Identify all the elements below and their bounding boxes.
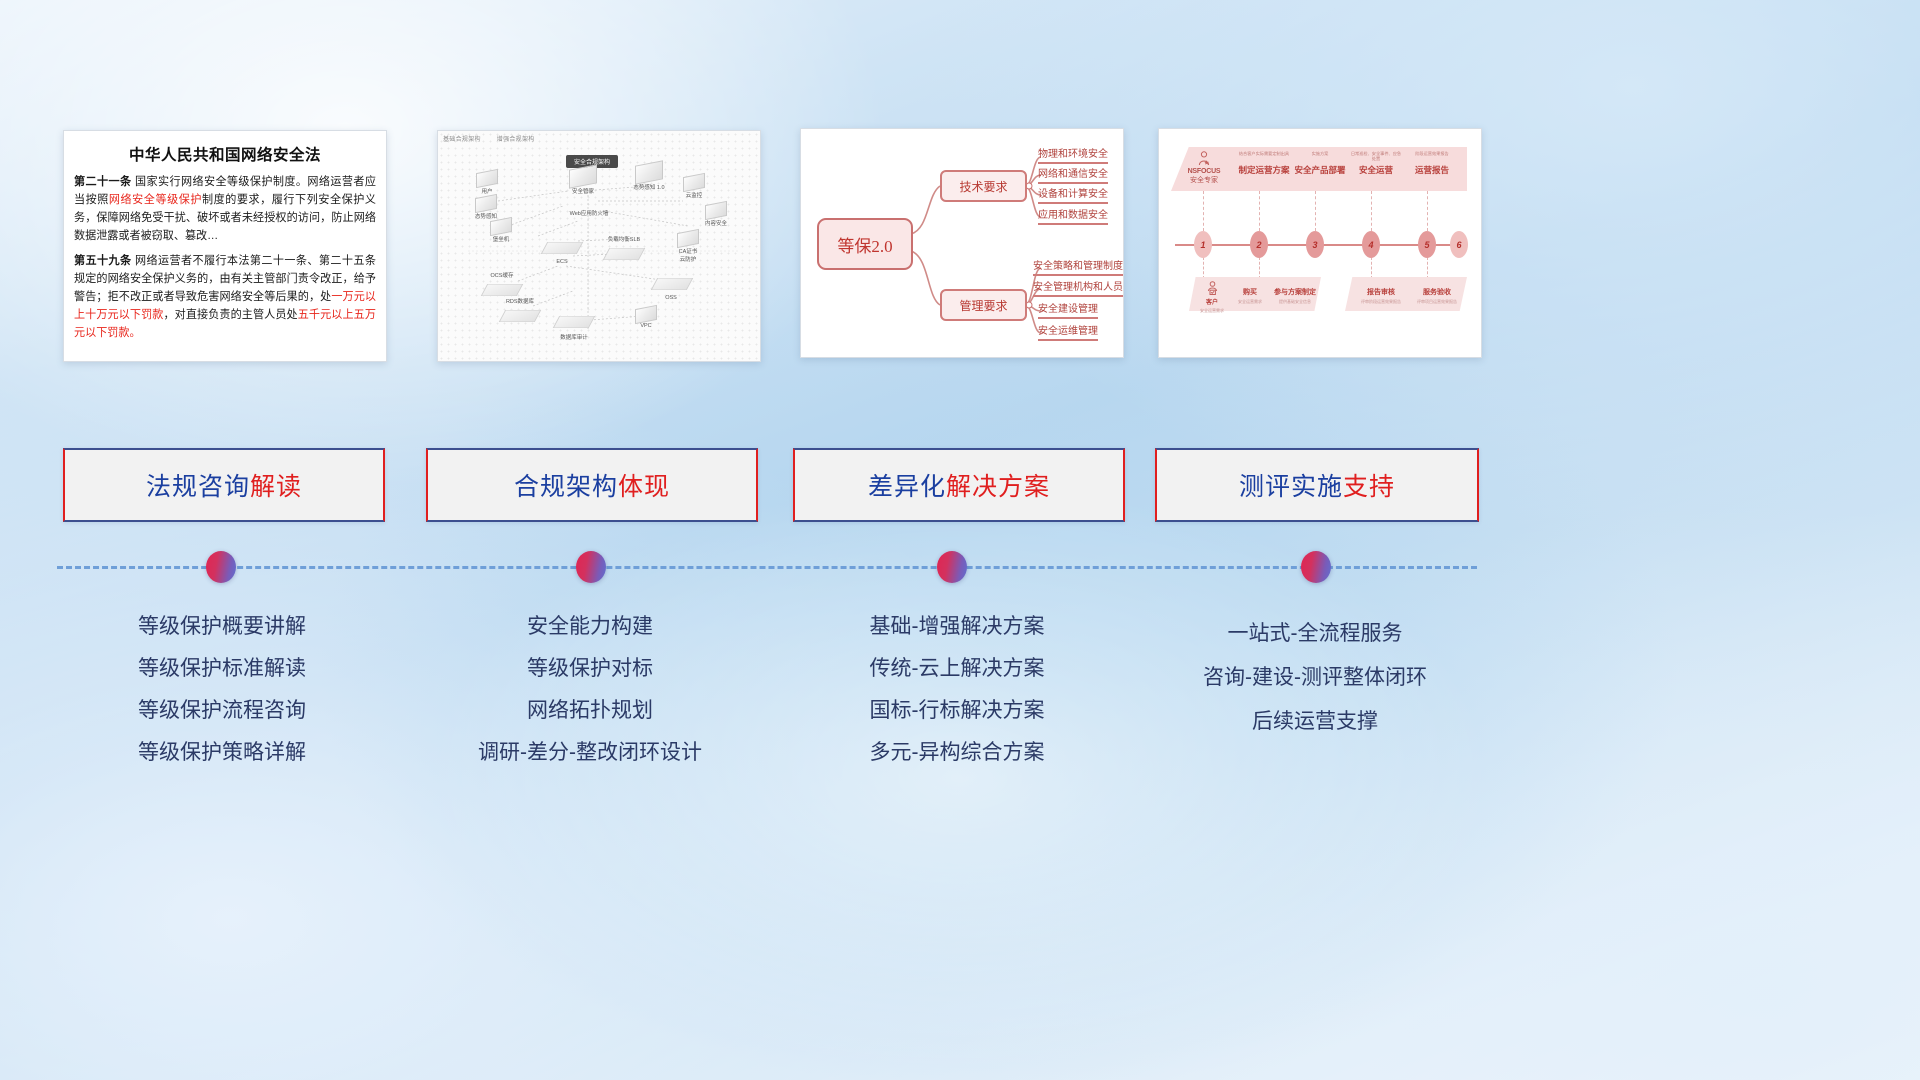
list-item: 多元-异构综合方案 xyxy=(793,732,1121,774)
list-item: 等级保护标准解读 xyxy=(63,648,381,690)
article-21-label: 第二十一条 xyxy=(74,176,131,188)
mindmap-branch-management: 管理要求 xyxy=(940,289,1027,321)
timeline-tick xyxy=(1371,257,1372,279)
bastion-icon xyxy=(490,217,512,236)
architecture-node: Web应用防火墙 xyxy=(558,209,620,217)
timeline-tick xyxy=(1427,191,1428,231)
timeline-footer-item: 购买 安全运营需求 xyxy=(1233,287,1267,305)
timeline-tick xyxy=(1259,191,1260,231)
timeline-step-header: 实施方案 安全产品部署 xyxy=(1293,151,1347,176)
section-items-2: 安全能力构建 等级保护对标 网络拓扑规划 调研-差分-整改闭环设计 xyxy=(426,606,754,774)
section-title-1-accent: 解读 xyxy=(250,467,302,503)
architecture-node: CA证书 xyxy=(670,231,706,255)
shield-icon xyxy=(475,194,497,213)
timeline-step-header: 结合客户实际需要定制出具 制定运营方案 xyxy=(1237,151,1291,176)
vpc-icon xyxy=(635,305,657,324)
customer-role: 客户 xyxy=(1195,297,1229,306)
timeline-step-header: 日常巡检、安全事件、应急处置 安全运营 xyxy=(1349,151,1403,176)
monitor-icon xyxy=(635,160,663,184)
timeline-marker-4[interactable] xyxy=(1301,551,1331,583)
customer-block: 客户 安全运营需求 xyxy=(1195,281,1229,314)
mindmap-leaf: 网络和通信安全 xyxy=(1038,165,1108,184)
ecs-icon xyxy=(541,242,583,254)
article-59-label: 第五十九条 xyxy=(74,255,131,267)
timeline-footer-item: 参与方案制定 提供基础安全信息 xyxy=(1269,287,1321,305)
section-title-4-accent: 支持 xyxy=(1343,467,1395,503)
section-title-box-4[interactable]: 测评实施支持 xyxy=(1155,448,1479,522)
law-article-59: 第五十九条 网络运营者不履行本法第二十一条、第二十五条规定的网络安全保护义务的，… xyxy=(74,253,376,343)
timeline-tick xyxy=(1427,257,1428,279)
timeline-tick xyxy=(1203,191,1204,231)
list-item: 咨询-建设-测评整体闭环 xyxy=(1155,656,1475,700)
card-compliance-architecture: 基础合规架构 增强合规架构 安全合规架构 用户 态势感知 xyxy=(437,130,761,362)
slb-icon xyxy=(603,248,645,260)
list-item: 后续运营支撑 xyxy=(1155,700,1475,744)
architecture-node: 态势感知 xyxy=(464,196,508,220)
cache-icon xyxy=(481,284,523,296)
list-item: 等级保护对标 xyxy=(426,648,754,690)
timeline-step-dot: 3 xyxy=(1306,231,1324,258)
timeline-step-dot: 5 xyxy=(1418,231,1436,258)
timeline-tick xyxy=(1259,257,1260,279)
architecture-diagram: 基础合规架构 增强合规架构 安全合规架构 用户 态势感知 xyxy=(438,131,760,361)
section-items-1: 等级保护概要讲解 等级保护标准解读 等级保护流程咨询 等级保护策略详解 xyxy=(63,606,381,774)
list-item: 安全能力构建 xyxy=(426,606,754,648)
architecture-node: ECS xyxy=(542,237,582,265)
list-item: 调研-差分-整改闭环设计 xyxy=(426,732,754,774)
architecture-node: 数据库审计 xyxy=(550,311,598,341)
timeline-dashed-line xyxy=(57,566,1477,569)
timeline-tick xyxy=(1315,191,1316,231)
architecture-node: 内容安全 xyxy=(696,203,736,227)
timeline-step-header: 阶段运营效果报告 运营报告 xyxy=(1405,151,1459,176)
section-title-3-accent: 解决方案 xyxy=(946,467,1050,503)
architecture-node: 安全管家 xyxy=(560,167,606,195)
timeline-step-dot: 4 xyxy=(1362,231,1380,258)
mindmap: 等保2.0 技术要求 管理要求 物理和环境安全 网络和通信安全 设备和计算安全 … xyxy=(801,129,1123,357)
db-audit-icon xyxy=(553,316,595,328)
list-item: 等级保护概要讲解 xyxy=(63,606,381,648)
expert-role: 安全专家 xyxy=(1177,176,1231,185)
timeline-footer-item: 服务验收 评审项目运营效果报告 xyxy=(1411,287,1463,305)
section-title-box-3[interactable]: 差异化解决方案 xyxy=(793,448,1125,522)
architecture-node: OSS xyxy=(654,273,688,301)
timeline-footer-item: 报告审核 评审阶段运营效果报告 xyxy=(1355,287,1407,305)
section-items-3: 基础-增强解决方案 传统-云上解决方案 国标-行标解决方案 多元-异构综合方案 xyxy=(793,606,1121,774)
reference-cards-row: 中华人民共和国网络安全法 第二十一条 国家实行网络安全等级保护制度。网络运营者应… xyxy=(0,0,1920,400)
timeline-marker-2[interactable] xyxy=(576,551,606,583)
oss-icon xyxy=(651,278,693,290)
timeline-step-dot: 6 xyxy=(1450,231,1468,258)
card-cybersecurity-law: 中华人民共和国网络安全法 第二十一条 国家实行网络安全等级保护制度。网络运营者应… xyxy=(63,130,387,362)
cloud-monitor-icon xyxy=(683,173,705,192)
list-item: 基础-增强解决方案 xyxy=(793,606,1121,648)
law-article-21: 第二十一条 国家实行网络安全等级保护制度。网络运营者应当按照网络安全等级保护制度… xyxy=(74,174,376,246)
card-nsfocus-timeline: NSFOCUS 安全专家 结合客户实际需要定制出具 制定运营方案 实施方案 安全… xyxy=(1158,128,1482,358)
architecture-node: 负载均衡SLB xyxy=(596,235,652,265)
section-title-box-2[interactable]: 合规架构体现 xyxy=(426,448,758,522)
section-title-3-primary: 差异化 xyxy=(868,467,946,503)
person-check-icon xyxy=(1206,281,1219,295)
list-item: 等级保护策略详解 xyxy=(63,732,381,774)
article-59-text-2: ，对直接负责的主管人员处 xyxy=(164,309,298,321)
mindmap-leaf: 安全运维管理 xyxy=(1038,322,1098,341)
mindmap-leaf: 物理和环境安全 xyxy=(1038,145,1108,164)
mindmap-leaf: 安全管理机构和人员 xyxy=(1033,278,1123,297)
gear-icon xyxy=(569,164,597,188)
section-title-2-accent: 体现 xyxy=(618,467,670,503)
expert-brand: NSFOCUS xyxy=(1177,167,1231,176)
law-title: 中华人民共和国网络安全法 xyxy=(74,143,376,165)
content-security-icon xyxy=(705,201,727,220)
list-item: 等级保护流程咨询 xyxy=(63,690,381,732)
service-timeline: NSFOCUS 安全专家 结合客户实际需要定制出具 制定运营方案 实施方案 安全… xyxy=(1159,129,1481,357)
architecture-node: 态势感知 1.0 xyxy=(624,163,674,191)
timeline-marker-3[interactable] xyxy=(937,551,967,583)
server-icon xyxy=(476,169,498,188)
architecture-node: 堡垒机 xyxy=(482,219,520,243)
list-item: 国标-行标解决方案 xyxy=(793,690,1121,732)
article-21-highlight: 网络安全等级保护 xyxy=(109,194,202,206)
timeline-step-dot: 2 xyxy=(1250,231,1268,258)
mindmap-leaf: 设备和计算安全 xyxy=(1038,185,1108,204)
architecture-node: VPC xyxy=(628,307,664,329)
mindmap-branch-technical: 技术要求 xyxy=(940,170,1027,202)
section-items-4: 一站式-全流程服务 咨询-建设-测评整体闭环 后续运营支撑 xyxy=(1155,612,1475,744)
architecture-node: 用户 xyxy=(470,171,504,195)
section-title-2-primary: 合规架构 xyxy=(514,467,618,503)
architecture-node: 云防护 xyxy=(670,255,706,263)
ca-cert-icon xyxy=(677,229,699,248)
architecture-node: RDS数据库 xyxy=(496,297,544,327)
timeline-tick xyxy=(1371,191,1372,231)
person-star-icon xyxy=(1197,151,1211,166)
expert-block: NSFOCUS 安全专家 xyxy=(1177,151,1231,186)
mindmap-leaf: 安全策略和管理制度 xyxy=(1033,257,1123,276)
list-item: 网络拓扑规划 xyxy=(426,690,754,732)
timeline-marker-1[interactable] xyxy=(206,551,236,583)
section-title-box-1[interactable]: 法规咨询解读 xyxy=(63,448,385,522)
timeline-tick xyxy=(1203,257,1204,279)
timeline-step-dot: 1 xyxy=(1194,231,1212,258)
card-mindmap-dengbao: 等保2.0 技术要求 管理要求 物理和环境安全 网络和通信安全 设备和计算安全 … xyxy=(800,128,1124,358)
list-item: 传统-云上解决方案 xyxy=(793,648,1121,690)
rds-icon xyxy=(499,310,541,322)
law-document: 中华人民共和国网络安全法 第二十一条 国家实行网络安全等级保护制度。网络运营者应… xyxy=(64,131,386,361)
mindmap-leaf: 应用和数据安全 xyxy=(1038,206,1108,225)
section-title-4-primary: 测评实施 xyxy=(1239,467,1343,503)
list-item: 一站式-全流程服务 xyxy=(1155,612,1475,656)
section-title-1-primary: 法规咨询 xyxy=(146,467,250,503)
mindmap-leaf: 安全建设管理 xyxy=(1038,300,1098,319)
mindmap-root: 等保2.0 xyxy=(817,218,913,270)
architecture-node: 云监控 xyxy=(674,175,714,199)
